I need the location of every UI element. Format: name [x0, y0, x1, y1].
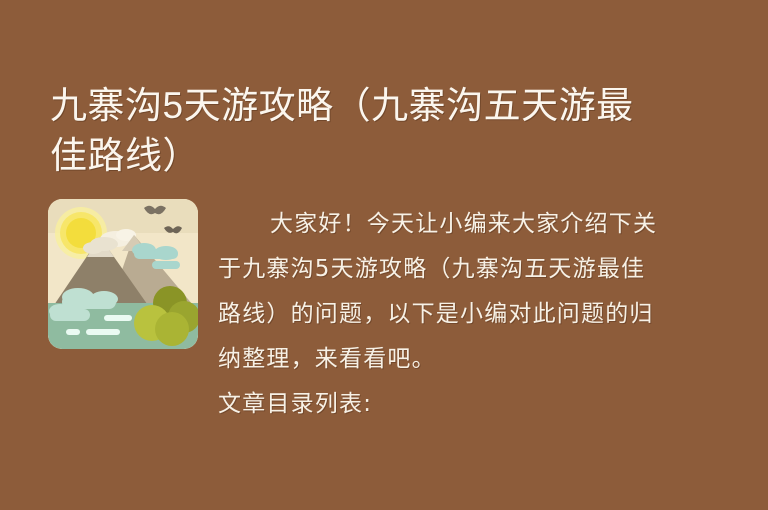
- article-thumbnail: [48, 199, 198, 349]
- intro-paragraph: 大家好！今天让小编来大家介绍下关于九寨沟5天游攻略（九寨沟五天游最佳路线）的问题…: [218, 202, 662, 382]
- article-page: 九寨沟5天游攻略（九寨沟五天游最佳路线）: [0, 0, 768, 510]
- toc-heading: 文章目录列表:: [218, 382, 662, 427]
- mountain-lake-landscape-icon: [48, 199, 198, 349]
- article-title-block: 九寨沟5天游攻略（九寨沟五天游最佳路线）: [50, 56, 670, 206]
- article-body: 大家好！今天让小编来大家介绍下关于九寨沟5天游攻略（九寨沟五天游最佳路线）的问题…: [218, 202, 662, 427]
- page-title: 九寨沟5天游攻略（九寨沟五天游最佳路线）: [50, 81, 670, 181]
